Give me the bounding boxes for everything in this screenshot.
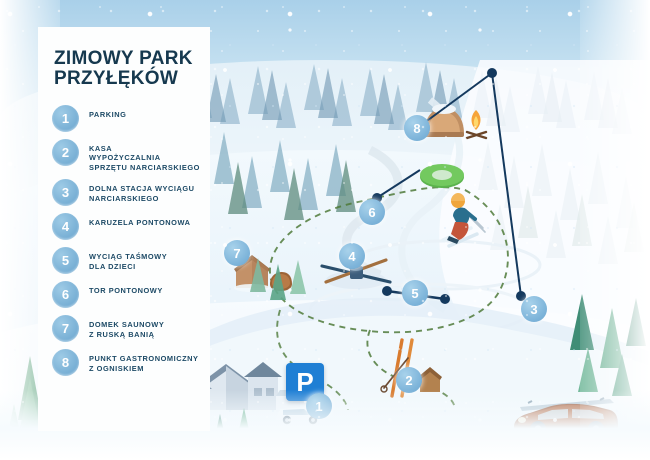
legend-panel: ZIMOWY PARK PRZYŁĘKÓW 1PARKING2KASA WYPO… [38, 27, 210, 431]
legend-badge-5: 5 [52, 247, 79, 274]
legend-label-7: DOMEK SAUNOWY Z RUSKĄ BANIĄ [89, 315, 164, 339]
legend-badge-8: 8 [52, 349, 79, 376]
winter-park-map-poster: P 12345678 [0, 0, 650, 460]
poster-title: ZIMOWY PARK PRZYŁĘKÓW [38, 27, 210, 89]
legend-badge-7: 7 [52, 315, 79, 342]
legend-badge-1: 1 [52, 105, 79, 132]
legend-label-1: PARKING [89, 105, 126, 119]
legend-badge-6: 6 [52, 281, 79, 308]
legend-list: 1PARKING2KASA WYPOŻYCZALNIA SPRZĘTU NARC… [38, 105, 210, 376]
legend-label-4: KARUZELA PONTONOWA [89, 213, 190, 227]
legend-label-6: TOR PONTONOWY [89, 281, 163, 295]
legend-badge-3: 3 [52, 179, 79, 206]
legend-label-5: WYCIĄG TAŚMOWY DLA DZIECI [89, 247, 167, 271]
legend-item-7: 7DOMEK SAUNOWY Z RUSKĄ BANIĄ [38, 315, 210, 342]
legend-label-2: KASA WYPOŻYCZALNIA SPRZĘTU NARCIARSKIEGO [89, 139, 200, 172]
legend-badge-2: 2 [52, 139, 79, 166]
legend-item-6: 6TOR PONTONOWY [38, 281, 210, 308]
legend-item-4: 4KARUZELA PONTONOWA [38, 213, 210, 240]
legend-item-3: 3DOLNA STACJA WYCIĄGU NARCIARSKIEGO [38, 179, 210, 206]
legend-item-2: 2KASA WYPOŻYCZALNIA SPRZĘTU NARCIARSKIEG… [38, 139, 210, 172]
legend-item-5: 5WYCIĄG TAŚMOWY DLA DZIECI [38, 247, 210, 274]
legend-label-3: DOLNA STACJA WYCIĄGU NARCIARSKIEGO [89, 179, 195, 203]
legend-badge-4: 4 [52, 213, 79, 240]
legend-item-1: 1PARKING [38, 105, 210, 132]
legend-label-8: PUNKT GASTRONOMICZNY Z OGNISKIEM [89, 349, 199, 373]
legend-item-8: 8PUNKT GASTRONOMICZNY Z OGNISKIEM [38, 349, 210, 376]
